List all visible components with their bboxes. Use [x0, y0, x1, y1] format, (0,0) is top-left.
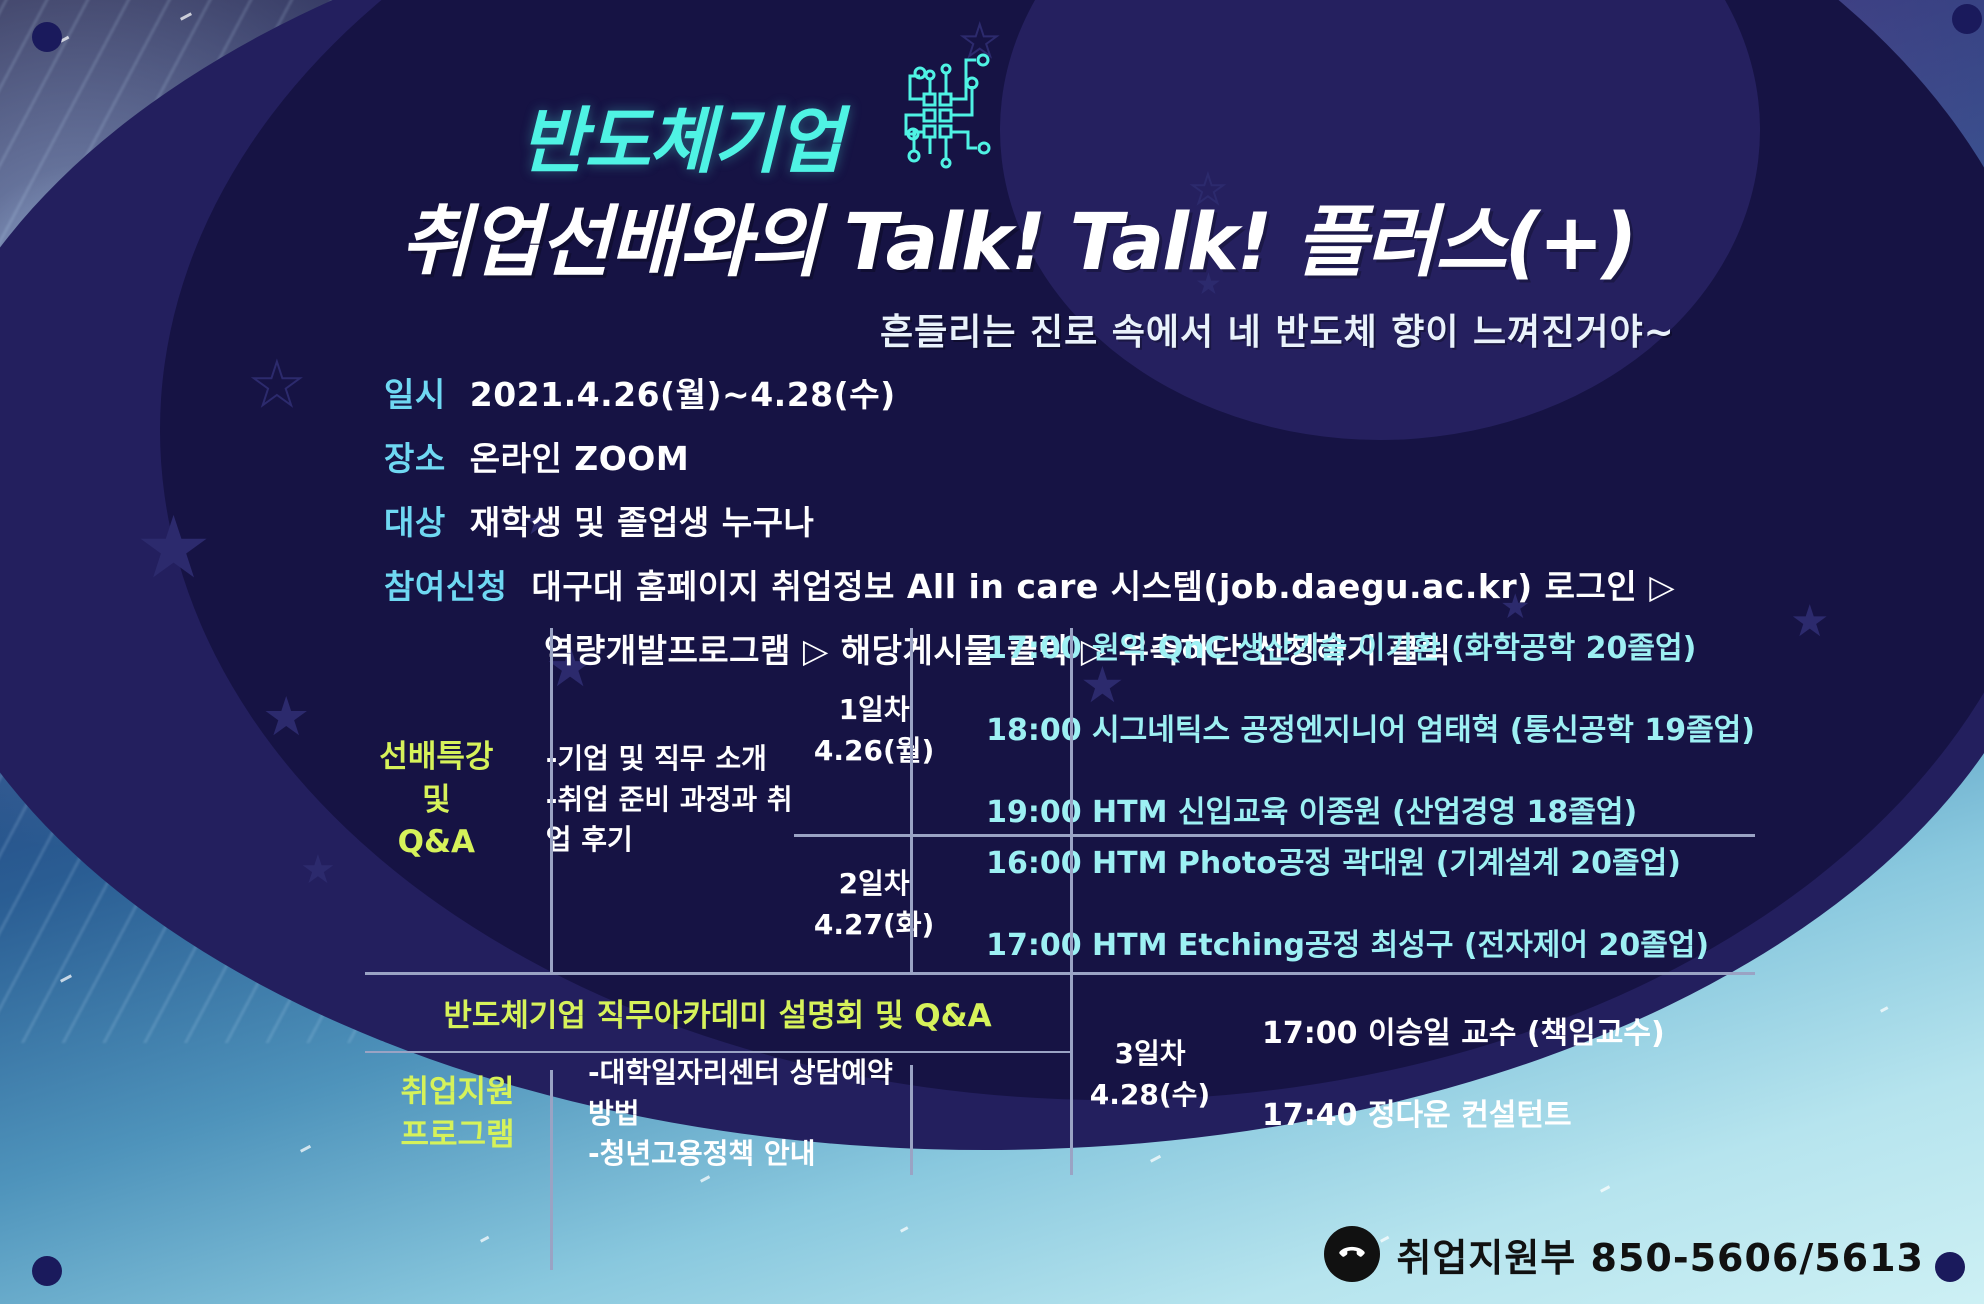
day-cell: 1일차 4.26(월): [794, 628, 954, 834]
session-text: HTM Photo공정 곽대원 (기계설계 20졸업): [1092, 846, 1681, 881]
decor-star-outline: ★: [250, 355, 304, 415]
info-row: 일시 2021.4.26(월)~4.28(수): [384, 368, 1684, 416]
session-text: 시그네틱스 공정엔지니어 엄태혁 (통신공학 19졸업): [1092, 713, 1755, 748]
main-title: 취업선배와의 Talk! Talk! 플러스(+): [400, 180, 1636, 292]
session-time: 17:40: [1262, 1098, 1358, 1133]
decor-star: ★: [135, 505, 212, 591]
session-item: 19:00 HTM 신입교육 이종원 (산업경영 18졸업): [986, 789, 1637, 837]
poster-root: ★ ★ ★ ★ ★ ★ ★ ★ ★ ★ ★ ★ 반도체기업: [0, 0, 1984, 1304]
info-label: 장소: [384, 432, 446, 480]
session-text: 원익 QnC 생산기술 이기환 (화학공학 20졸업): [1092, 631, 1696, 666]
session-item: 17:00 이승일 교수 (책임교수): [1262, 1010, 1665, 1058]
info-value: 대구대 홈페이지 취업정보 All in care 시스템(job.daegu.…: [531, 560, 1675, 608]
session-list: 16:00 HTM Photo공정 곽대원 (기계설계 20졸업) 17:00 …: [954, 837, 1755, 972]
category-label: 선배특강 및 Q&A: [365, 628, 508, 972]
info-label: 참여신청: [384, 560, 507, 608]
info-row-apply: 참여신청 대구대 홈페이지 취업정보 All in care 시스템(job.d…: [384, 560, 1684, 608]
session-item: 17:40 정다운 컨설턴트: [1262, 1092, 1572, 1140]
footer-contact: 취업지원부 850-5606/5613: [1324, 1226, 1924, 1282]
session-list: 17:00 이승일 교수 (책임교수) 17:40 정다운 컨설턴트: [1230, 975, 1755, 1175]
session-time: 17:00: [1262, 1016, 1358, 1051]
table-row: 반도체기업 직무아카데미 설명회 및 Q&A 취업지원 프로그램 -대학일자리센…: [365, 975, 1755, 1175]
session-list: 17:00 원익 QnC 생산기술 이기환 (화학공학 20졸업) 18:00 …: [954, 628, 1755, 834]
session-time: 16:00: [986, 846, 1082, 881]
session-text: 이승일 교수 (책임교수): [1368, 1016, 1665, 1051]
phone-icon: [1324, 1226, 1380, 1282]
session-item: 17:00 원익 QnC 생산기술 이기환 (화학공학 20졸업): [986, 625, 1696, 673]
session-text: 정다운 컨설턴트: [1368, 1098, 1572, 1133]
session-time: 17:00: [986, 631, 1082, 666]
category-label: 취업지원 프로그램: [365, 1053, 550, 1175]
day-date: 4.27(화): [814, 905, 934, 946]
session-text: HTM 신입교육 이종원 (산업경영 18졸업): [1092, 795, 1637, 830]
decor-dot: [1952, 4, 1982, 34]
decor-star: ★: [262, 690, 310, 744]
info-label: 일시: [384, 368, 446, 416]
day-cell: 3일차 4.28(수): [1070, 975, 1230, 1175]
decor-dot: [1935, 1252, 1965, 1282]
info-value: 온라인 ZOOM: [470, 432, 689, 480]
decor-dot: [32, 22, 62, 52]
day-date: 4.26(월): [814, 731, 934, 772]
decor-dot: [32, 1256, 62, 1286]
decor-star: ★: [1790, 600, 1829, 644]
day-date: 4.28(수): [1090, 1075, 1210, 1116]
info-row: 대상 재학생 및 졸업생 누구나: [384, 496, 1684, 544]
decor-star: ★: [300, 850, 336, 890]
info-label: 대상: [384, 496, 446, 544]
circuit-chip-icon: [880, 42, 998, 172]
info-value: 재학생 및 졸업생 누구나: [470, 496, 815, 544]
day-number: 2일차: [839, 864, 910, 905]
session-time: 18:00: [986, 713, 1082, 748]
session-time: 19:00: [986, 795, 1082, 830]
category-description: -대학일자리센터 상담예약 방법 -청년고용정책 안내: [550, 1053, 910, 1175]
subtitle: 흔들리는 진로 속에서 네 반도체 향이 느껴진거야~: [880, 303, 1675, 355]
schedule-table: 선배특강 및 Q&A -기업 및 직무 소개 -취업 준비 과정과 취업 후기 …: [365, 628, 1755, 1175]
session-item: 17:00 HTM Etching공정 최성구 (전자제어 20졸업): [986, 922, 1709, 970]
session-item: 16:00 HTM Photo공정 곽대원 (기계설계 20졸업): [986, 840, 1681, 888]
eyebrow-title: 반도체기업: [520, 82, 841, 187]
footer-text: 취업지원부 850-5606/5613: [1396, 1227, 1924, 1282]
day-number: 3일차: [1114, 1034, 1185, 1075]
session-time: 17:00: [986, 928, 1082, 963]
info-row: 장소 온라인 ZOOM: [384, 432, 1684, 480]
academy-row: 반도체기업 직무아카데미 설명회 및 Q&A: [365, 975, 1070, 1051]
info-value: 2021.4.26(월)~4.28(수): [470, 368, 896, 416]
session-item: 18:00 시그네틱스 공정엔지니어 엄태혁 (통신공학 19졸업): [986, 707, 1755, 755]
table-row: 선배특강 및 Q&A -기업 및 직무 소개 -취업 준비 과정과 취업 후기 …: [365, 628, 1755, 972]
day-number: 1일차: [839, 690, 910, 731]
category-label: 반도체기업 직무아카데미 설명회 및 Q&A: [443, 990, 991, 1035]
session-text: HTM Etching공정 최성구 (전자제어 20졸업): [1092, 928, 1709, 963]
day-cell: 2일차 4.27(화): [794, 837, 954, 972]
